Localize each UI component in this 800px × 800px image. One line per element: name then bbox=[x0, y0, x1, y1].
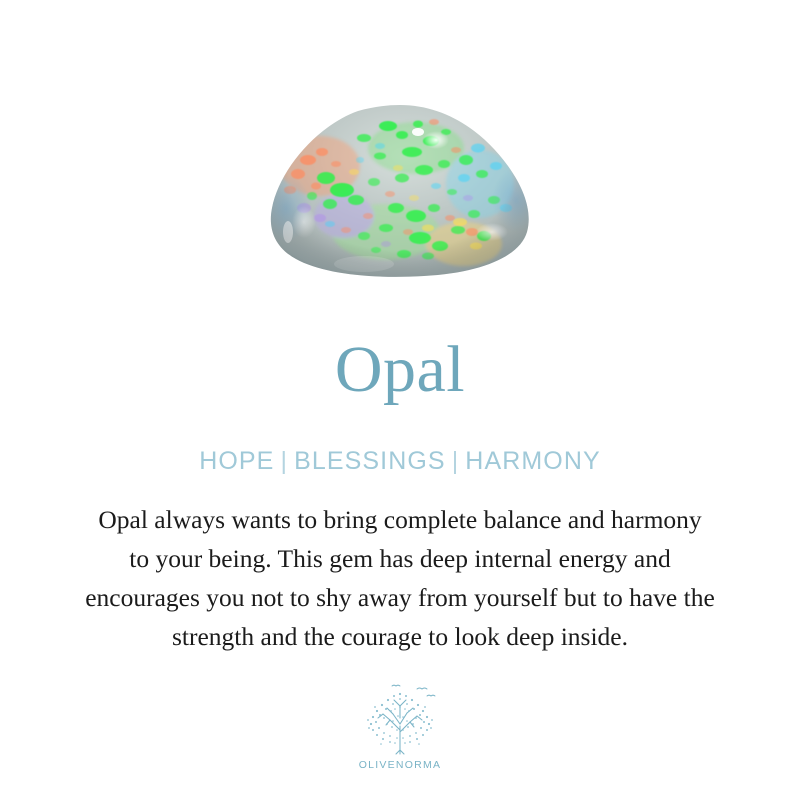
keyword-harmony: HARMONY bbox=[465, 447, 600, 475]
keyword-blessings: BLESSINGS bbox=[294, 447, 446, 475]
brand-wordmark: OLIVENORMA bbox=[359, 759, 442, 771]
keyword-hope: HOPE bbox=[199, 447, 274, 475]
opal-cabochon-image bbox=[268, 104, 532, 278]
description-line: encourages you not to shy away from your… bbox=[18, 578, 782, 617]
gemstone-keywords: HOPE|BLESSINGS|HARMONY bbox=[0, 446, 800, 476]
gemstone-image-area bbox=[0, 0, 800, 300]
gemstone-description: Opal always wants to bring complete bala… bbox=[18, 500, 782, 656]
gemstone-title: Opal bbox=[0, 333, 800, 407]
olive-tree-icon bbox=[357, 680, 443, 756]
description-line: Opal always wants to bring complete bala… bbox=[18, 500, 782, 539]
gemstone-info-card: Opal HOPE|BLESSINGS|HARMONY Opal always … bbox=[0, 0, 800, 800]
opal-cabochon-graphic bbox=[268, 104, 532, 278]
description-line: to your being. This gem has deep interna… bbox=[18, 539, 782, 578]
keyword-separator-2: | bbox=[446, 447, 466, 475]
description-line: strength and the courage to look deep in… bbox=[18, 617, 782, 656]
keyword-separator-1: | bbox=[274, 447, 294, 475]
brand-logo: OLIVENORMA bbox=[350, 680, 450, 782]
